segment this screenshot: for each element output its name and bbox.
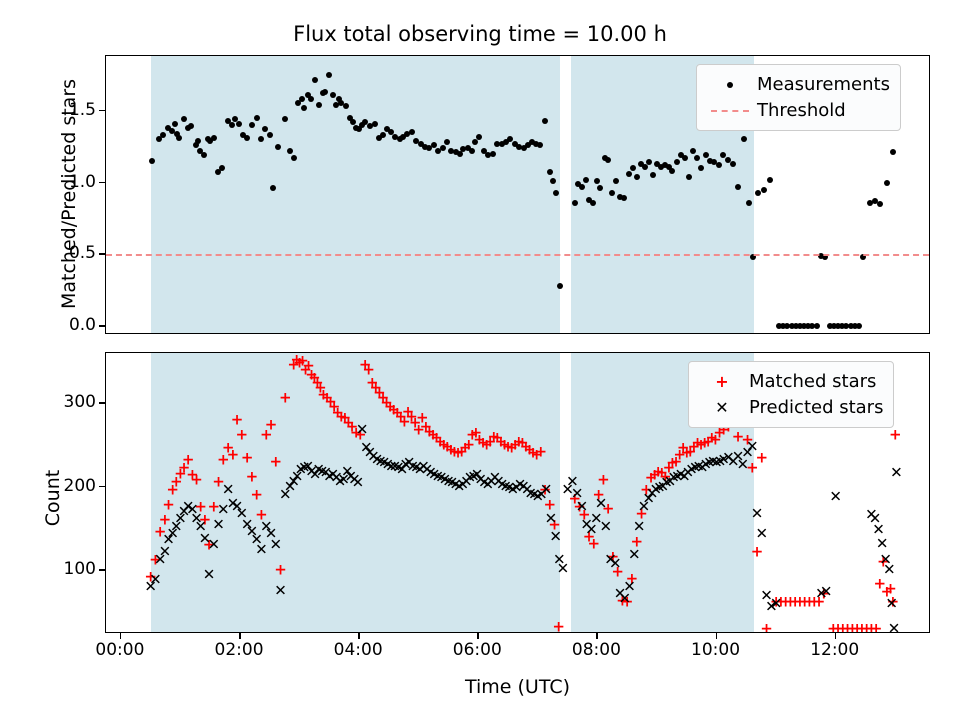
data-point: + (774, 596, 787, 609)
x-tick-label: 12:00 (810, 640, 859, 660)
data-point: ✕ (883, 564, 896, 577)
data-point: + (793, 596, 806, 609)
x-tick-label: 06:00 (453, 640, 502, 660)
data-point: ✕ (760, 589, 773, 602)
data-point (784, 323, 790, 329)
data-point: + (836, 622, 849, 633)
x-tick-label: 08:00 (572, 640, 621, 660)
x-tick-mark (358, 633, 360, 639)
data-point: + (832, 622, 845, 633)
plus-marker-icon: + (699, 375, 745, 388)
data-point: + (873, 577, 886, 590)
threshold-line (106, 254, 929, 256)
dot-marker-icon (707, 75, 753, 94)
data-point: + (813, 596, 826, 609)
data-point (789, 323, 795, 329)
legend-label-matched-stars: Matched stars (745, 371, 876, 392)
data-point: ✕ (869, 512, 882, 525)
y-tick-mark (99, 110, 105, 112)
data-point: ✕ (888, 622, 901, 633)
y-tick-mark (99, 486, 105, 488)
data-point: + (803, 596, 816, 609)
data-point (852, 323, 858, 329)
data-point: ✕ (820, 586, 833, 599)
data-point: ✕ (829, 490, 842, 503)
x-tick-label: 04:00 (334, 640, 383, 660)
data-point (843, 323, 849, 329)
data-point: + (860, 622, 873, 633)
data-point: ✕ (879, 554, 892, 567)
x-tick-mark (596, 633, 598, 639)
x-tick-label: 10:00 (691, 640, 740, 660)
data-point: + (808, 596, 821, 609)
y-tick-mark (99, 182, 105, 184)
data-point: + (770, 596, 783, 609)
y-tick-mark (99, 402, 105, 404)
x-axis-label: Time (UTC) (105, 676, 930, 698)
shaded-observing-span (151, 353, 561, 632)
data-point (767, 177, 773, 183)
x-tick-mark (716, 633, 718, 639)
legend-item-matched-stars: + Matched stars (699, 368, 883, 394)
y-tick-mark (99, 569, 105, 571)
data-point: ✕ (890, 467, 903, 480)
cross-marker-icon: ✕ (699, 401, 745, 414)
x-tick-label: 00:00 (95, 640, 144, 660)
y-tick-mark (99, 325, 105, 327)
y-tick-label: 0.5 (38, 243, 96, 263)
data-point (814, 323, 820, 329)
data-point (776, 323, 782, 329)
data-point: + (827, 622, 840, 633)
legend-label-measurements: Measurements (753, 74, 890, 95)
data-point: ✕ (765, 601, 778, 614)
data-point: + (865, 622, 878, 633)
data-point: + (798, 596, 811, 609)
data-point: + (846, 622, 859, 633)
y-tick-label: 0.0 (38, 315, 96, 335)
data-point: + (841, 622, 854, 633)
legend-item-threshold: Threshold (707, 97, 890, 123)
data-point: + (880, 586, 893, 599)
data-point (884, 180, 890, 186)
data-point: ✕ (865, 509, 878, 522)
data-point (848, 323, 854, 329)
data-point (872, 198, 878, 204)
data-point: + (789, 596, 802, 609)
data-point (797, 323, 803, 329)
legend-counts: + Matched stars ✕ Predicted stars (688, 361, 894, 428)
legend-ratio: Measurements Threshold (696, 64, 901, 131)
legend-label-threshold: Threshold (753, 100, 846, 121)
data-point: + (760, 622, 773, 633)
data-point (780, 323, 786, 329)
legend-item-measurements: Measurements (707, 71, 890, 97)
data-point (867, 200, 873, 206)
data-point: + (779, 596, 792, 609)
x-tick-mark (477, 633, 479, 639)
data-point (856, 323, 862, 329)
data-point (809, 323, 815, 329)
legend-item-predicted-stars: ✕ Predicted stars (699, 394, 883, 420)
data-point (890, 149, 896, 155)
data-point: ✕ (815, 587, 828, 600)
y-tick-label: 1.5 (38, 100, 96, 120)
x-tick-mark (835, 633, 837, 639)
data-point: + (870, 622, 883, 633)
dashed-line-icon (707, 101, 753, 120)
data-point (877, 201, 883, 207)
x-tick-mark (239, 633, 241, 639)
data-point: ✕ (755, 527, 768, 540)
data-point: ✕ (885, 597, 898, 610)
x-tick-label: 02:00 (215, 640, 264, 660)
y-tick-label: 300 (38, 392, 96, 412)
data-point (793, 323, 799, 329)
x-tick-mark (120, 633, 122, 639)
data-point: + (784, 596, 797, 609)
chart-title: Flux total observing time = 10.00 h (0, 22, 960, 46)
shaded-observing-span (151, 56, 561, 333)
data-point (827, 323, 833, 329)
data-point: + (817, 587, 830, 600)
figure-canvas: Flux total observing time = 10.00 h Matc… (0, 0, 960, 720)
y-axis-label-bottom: Count (42, 448, 64, 548)
y-axis-label-top: Matched/Predicted stars (58, 54, 80, 334)
y-tick-label: 1.0 (38, 172, 96, 192)
data-point (801, 323, 807, 329)
data-point (839, 323, 845, 329)
data-point: ✕ (876, 537, 889, 550)
data-point: + (889, 428, 902, 441)
data-point (755, 190, 761, 196)
data-point: + (877, 556, 890, 569)
data-point: + (851, 622, 864, 633)
data-point: ✕ (770, 597, 783, 610)
data-point (831, 323, 837, 329)
y-tick-label: 100 (38, 559, 96, 579)
data-point: ✕ (872, 524, 885, 537)
data-point (835, 323, 841, 329)
y-tick-label: 200 (38, 476, 96, 496)
data-point (805, 323, 811, 329)
y-tick-mark (99, 253, 105, 255)
data-point: + (855, 622, 868, 633)
data-point: + (884, 582, 897, 595)
data-point: + (886, 596, 899, 609)
legend-label-predicted-stars: Predicted stars (745, 397, 883, 418)
data-point: + (755, 452, 768, 465)
data-point (761, 187, 767, 193)
